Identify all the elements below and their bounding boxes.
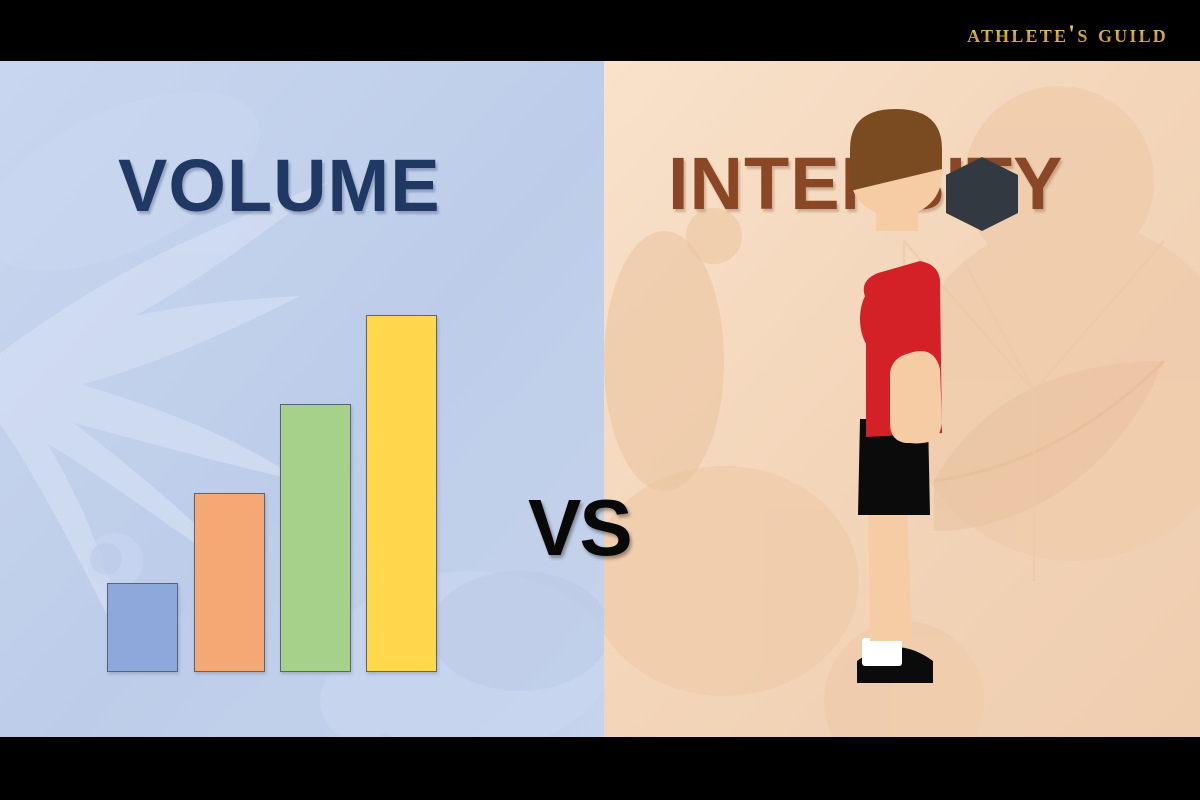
chart-bar	[280, 404, 351, 672]
versus-label: VS	[528, 488, 631, 568]
chart-bar	[194, 493, 265, 672]
athlete-figure	[604, 61, 1200, 737]
brand-logo[interactable]: Athlete's Guild	[967, 22, 1168, 47]
chart-bar	[107, 583, 178, 672]
artwork-area: VOLUME INTENSITY	[0, 61, 1200, 737]
dumbbell-shape	[946, 157, 1018, 231]
neck-shape	[876, 201, 918, 231]
sleeve-shape	[860, 283, 904, 355]
letterbox-bottom	[0, 737, 1200, 800]
athlete-illustration	[604, 61, 1200, 737]
chart-bar	[366, 315, 437, 672]
poster-canvas: VOLUME INTENSITY	[0, 0, 1200, 800]
hand-shape	[894, 399, 934, 443]
sock-shape	[862, 638, 902, 666]
volume-bar-chart	[0, 61, 604, 737]
